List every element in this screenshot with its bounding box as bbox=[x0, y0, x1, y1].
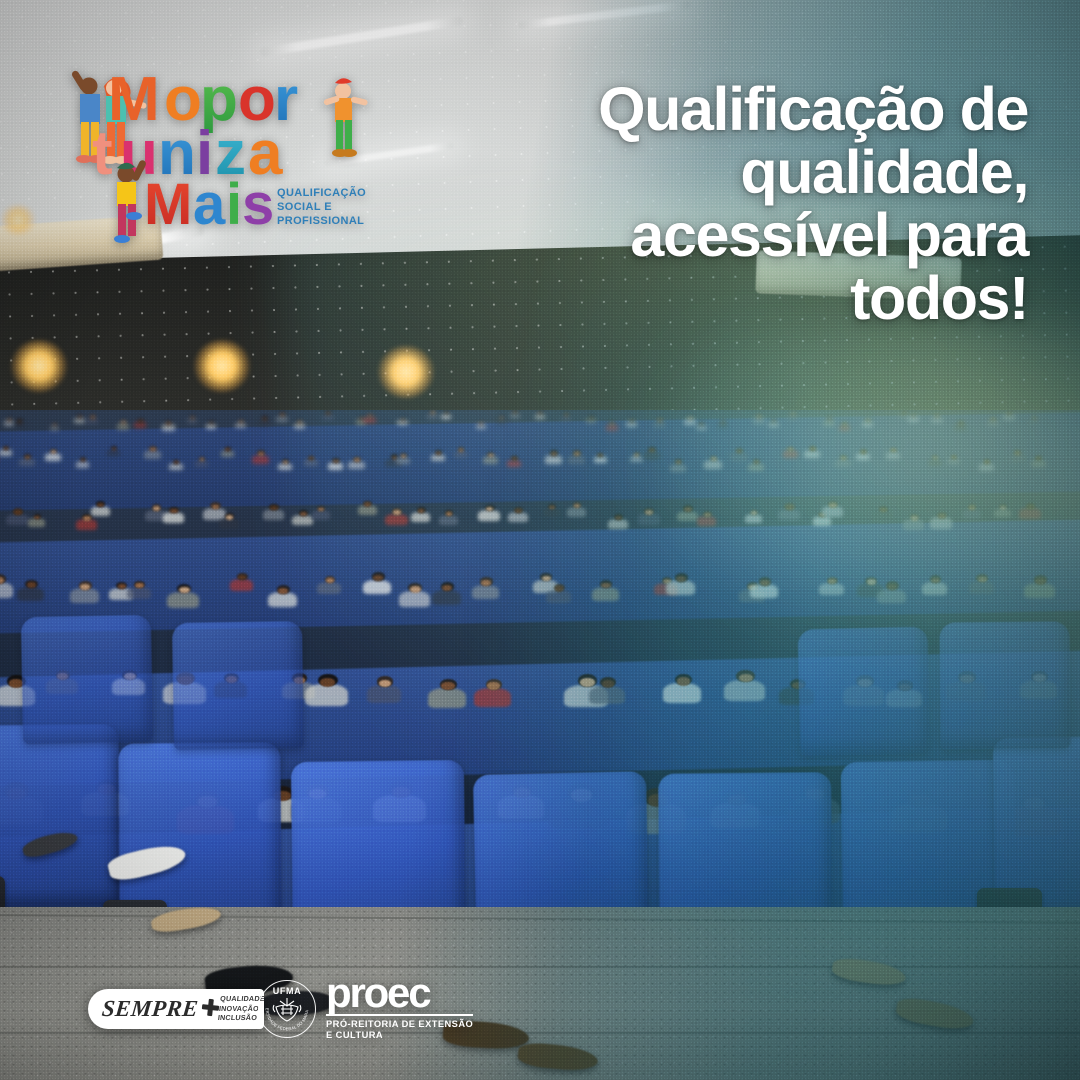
logo-tagline-line3: PROFISSIONAL bbox=[277, 215, 364, 227]
svg-text:i: i bbox=[226, 172, 242, 237]
proec-divider bbox=[326, 1014, 473, 1015]
proec-logo: proec PRÓ-REITORIA DE EXTENSÃO E CULTURA bbox=[326, 975, 473, 1042]
sempre-wordmark: SEMPRE bbox=[101, 997, 200, 1020]
proec-wordmark: proec bbox=[326, 975, 473, 1011]
footer-logo-lockup: SEMPRE QUALIDADE INOVAÇÃO INCLUSÃO UNIVE… bbox=[88, 975, 473, 1042]
headline: Qualificação de qualidade, acessível par… bbox=[528, 78, 1028, 331]
plus-icon bbox=[202, 999, 212, 1016]
svg-text:t: t bbox=[92, 119, 113, 188]
sempre-tagline-line3: INCLUSÃO bbox=[218, 1014, 258, 1023]
moportuniza-mais-logo: M o p o r t u n bbox=[52, 34, 382, 244]
svg-text:s: s bbox=[242, 172, 274, 237]
headline-line-4: todos! bbox=[528, 267, 1028, 330]
ufma-acronym: UFMA bbox=[259, 986, 315, 996]
headline-line-1: Qualificação de bbox=[528, 78, 1028, 141]
headline-line-3: acessível para bbox=[528, 204, 1028, 267]
logo-word-mais: M a i s bbox=[144, 172, 274, 237]
headline-line-2: qualidade, bbox=[528, 141, 1028, 204]
svg-text:M: M bbox=[144, 172, 192, 237]
sempre-mais-logo: SEMPRE QUALIDADE INOVAÇÃO INCLUSÃO bbox=[88, 989, 264, 1029]
proec-subtitle-line1: PRÓ-REITORIA DE EXTENSÃO bbox=[326, 1019, 473, 1029]
logo-tagline: QUALIFICAÇÃO SOCIAL E PROFISSIONAL bbox=[277, 186, 366, 227]
poster-canvas: ibuA bbox=[0, 0, 1080, 1080]
proec-subtitle-line2: E CULTURA bbox=[326, 1030, 383, 1040]
proec-subtitle: PRÓ-REITORIA DE EXTENSÃO E CULTURA bbox=[326, 1019, 473, 1042]
ufma-crest-icon bbox=[270, 996, 304, 1024]
sempre-tagline-line2: INOVAÇÃO bbox=[219, 1004, 260, 1013]
svg-text:a: a bbox=[193, 172, 226, 237]
logo-tagline-line2: SOCIAL E bbox=[277, 201, 332, 213]
ufma-seal-icon: UNIVERSIDADE FEDERAL DO MARANHÃO UFMA bbox=[258, 980, 316, 1038]
logo-figure-orange-top bbox=[323, 78, 368, 157]
logo-tagline-line1: QUALIFICAÇÃO bbox=[277, 186, 366, 199]
logo-figure-yellow-shirt bbox=[114, 159, 147, 243]
